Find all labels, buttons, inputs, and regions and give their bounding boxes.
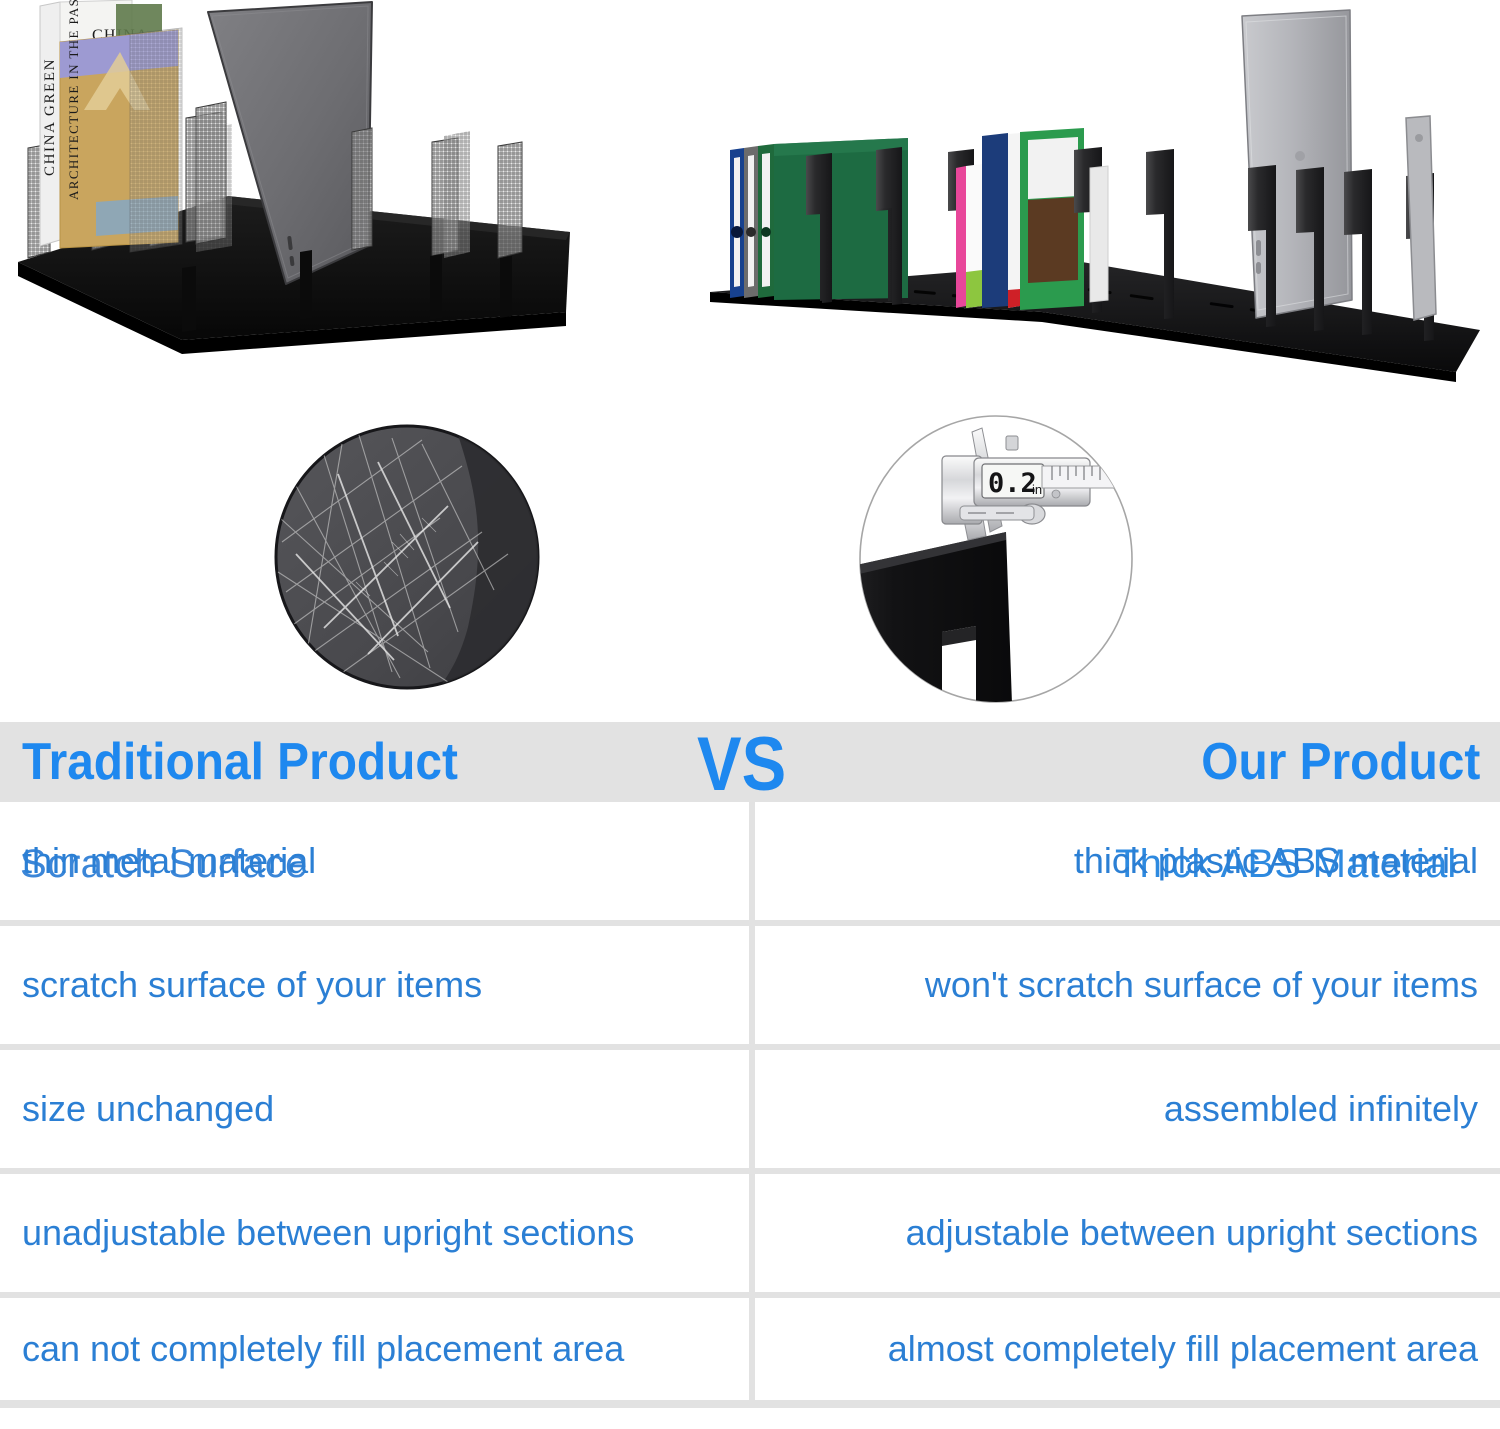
header-vs: VS	[697, 724, 786, 806]
scratch-surface-detail	[272, 422, 542, 692]
abs-thickness-detail: 0.2 in	[856, 414, 1136, 704]
table-row: can not completely fill placement area a…	[0, 1298, 1500, 1408]
comparison-rows: thin metal material thick plastic ABS ma…	[0, 802, 1500, 1408]
traditional-cell: size unchanged	[0, 1050, 755, 1168]
table-row: thin metal material thick plastic ABS ma…	[0, 802, 1500, 926]
comparison-header: Traditional Product VS Our Product	[0, 722, 1500, 802]
table-row: unadjustable between upright sections ad…	[0, 1174, 1500, 1298]
our-cell: thick plastic ABS material	[755, 802, 1500, 920]
header-traditional-product: Traditional Product	[22, 728, 458, 796]
our-cell: almost completely fill placement area	[755, 1298, 1500, 1400]
traditional-cell: can not completely fill placement area	[0, 1298, 755, 1400]
caliper-value: 0.2	[988, 468, 1037, 499]
svg-text:ARCHITECTURE IN THE PAST: ARCHITECTURE IN THE PAST	[66, 0, 81, 200]
table-row: scratch surface of your items won't scra…	[0, 926, 1500, 1050]
our-product-photo	[690, 0, 1500, 400]
our-cell: assembled infinitely	[755, 1050, 1500, 1168]
our-cell: adjustable between upright sections	[755, 1174, 1500, 1292]
traditional-cell: scratch surface of your items	[0, 926, 755, 1044]
traditional-product-photo: CHINA GREEN CHINA ARCHITECTURE IN THE PA…	[0, 0, 620, 400]
table-row: size unchanged assembled infinitely	[0, 1050, 1500, 1174]
detail-callouts: 0.2 in	[0, 400, 1500, 720]
traditional-cell: unadjustable between upright sections	[0, 1174, 755, 1292]
svg-text:CHINA GREEN: CHINA GREEN	[42, 58, 58, 176]
caliper-unit: in	[1032, 482, 1042, 497]
our-cell: won't scratch surface of your items	[755, 926, 1500, 1044]
traditional-cell: thin metal material	[0, 802, 755, 920]
header-our-product: Our Product	[1201, 728, 1480, 796]
comparison-table: Traditional Product VS Our Product thin …	[0, 722, 1500, 1422]
infographic-root: CHINA GREEN CHINA ARCHITECTURE IN THE PA…	[0, 0, 1500, 1429]
product-photos: CHINA GREEN CHINA ARCHITECTURE IN THE PA…	[0, 0, 1500, 400]
